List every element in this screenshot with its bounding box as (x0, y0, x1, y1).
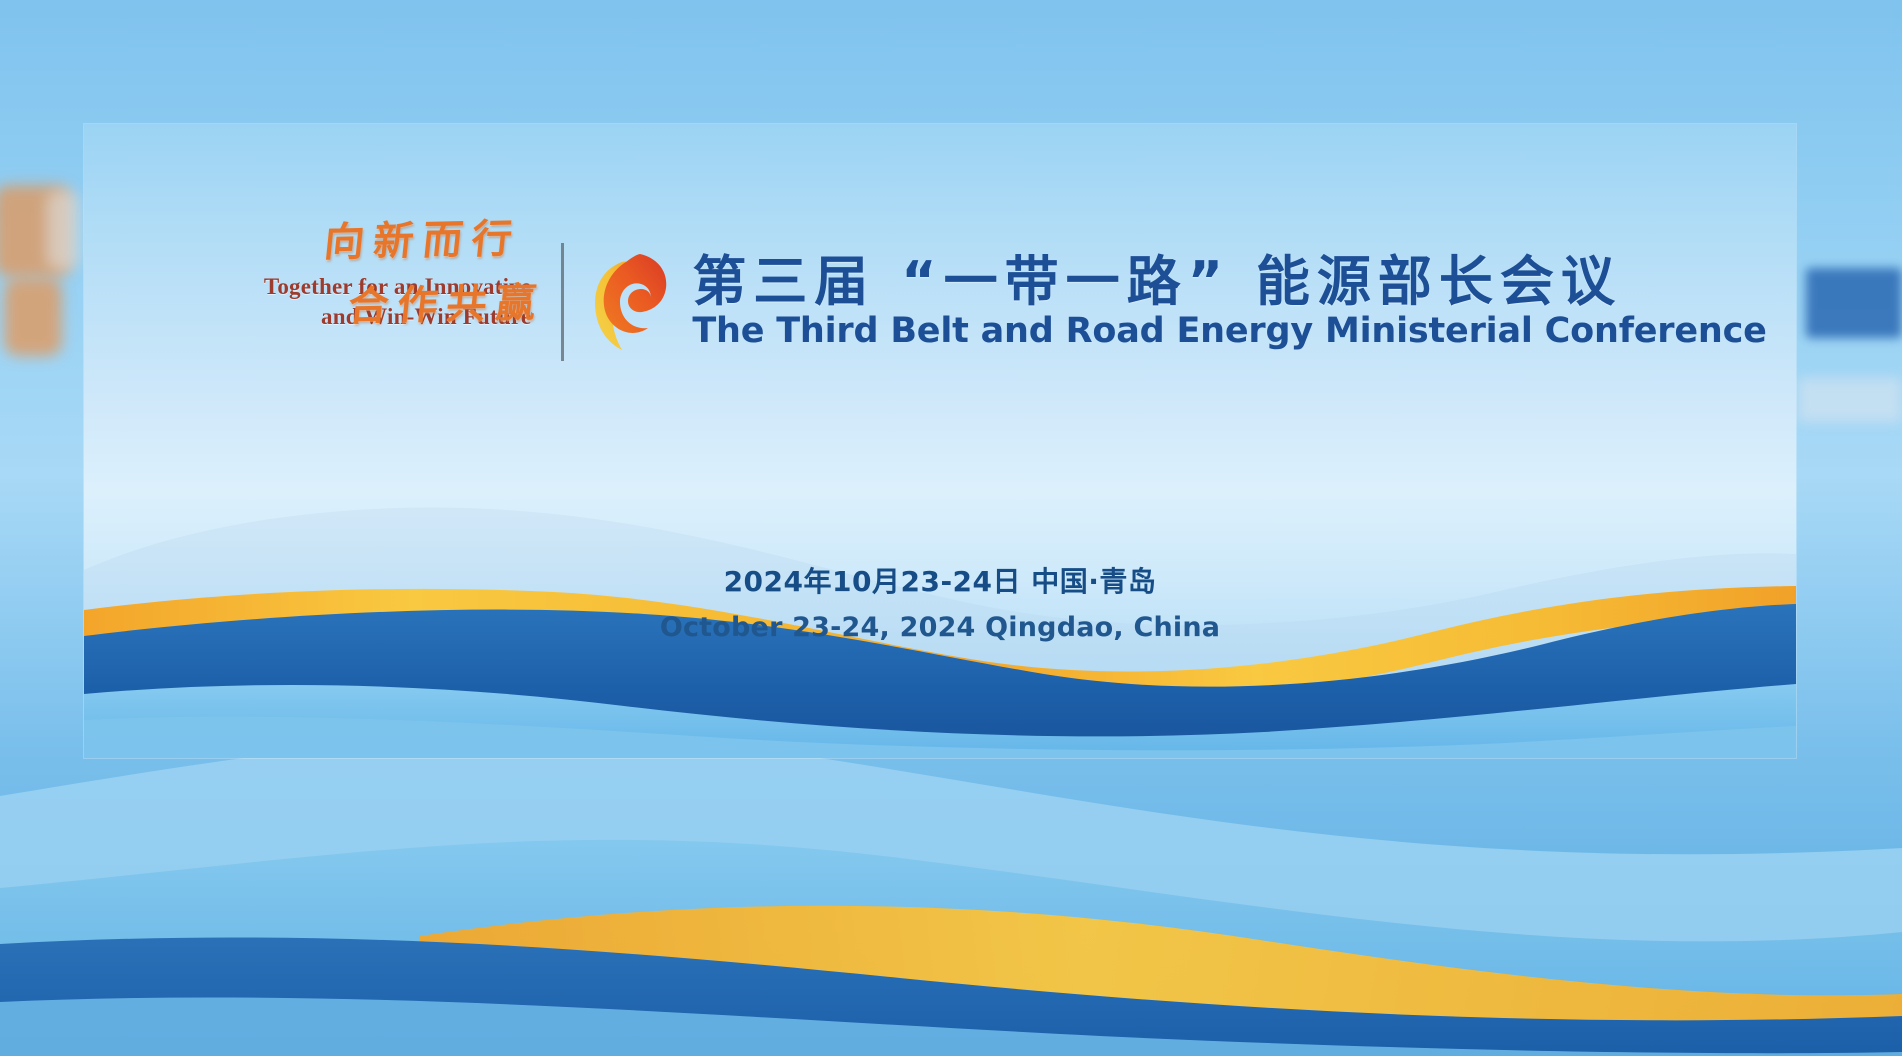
banner-headline-row: Together for an Innovative and Win-Win F… (84, 124, 1796, 454)
slogan-chinese-line-1: 向新而行 (322, 206, 524, 268)
conference-banner: Together for an Innovative and Win-Win F… (84, 124, 1796, 758)
left-edge-artifact-lower (4, 278, 62, 356)
right-edge-artifact-pale (1798, 378, 1902, 422)
vertical-divider (561, 243, 564, 361)
slogan-chinese-line-2: 合作共赢 (346, 270, 548, 332)
date-location-english: October 23-24, 2024 Qingdao, China (660, 612, 1220, 643)
conference-title-chinese: 第三届 “一带一路” 能源部长会议 (692, 253, 1766, 310)
belt-and-road-flame-logo-icon (588, 248, 674, 356)
right-edge-artifact-blue (1806, 268, 1902, 338)
date-location-block: 2024年10月23-24日 中国·青岛 October 23-24, 2024… (84, 560, 1796, 643)
title-texts: 第三届 “一带一路” 能源部长会议 The Third Belt and Roa… (692, 253, 1766, 351)
left-edge-artifact-light (46, 190, 80, 270)
conference-title-english: The Third Belt and Road Energy Ministeri… (692, 312, 1766, 351)
slogan-block: Together for an Innovative and Win-Win F… (113, 214, 543, 364)
title-block: 第三届 “一带一路” 能源部长会议 The Third Belt and Roa… (588, 248, 1766, 356)
date-location-chinese: 2024年10月23-24日 中国·青岛 (724, 560, 1157, 600)
slogan-chinese: 向新而行 合作共赢 (239, 214, 539, 364)
